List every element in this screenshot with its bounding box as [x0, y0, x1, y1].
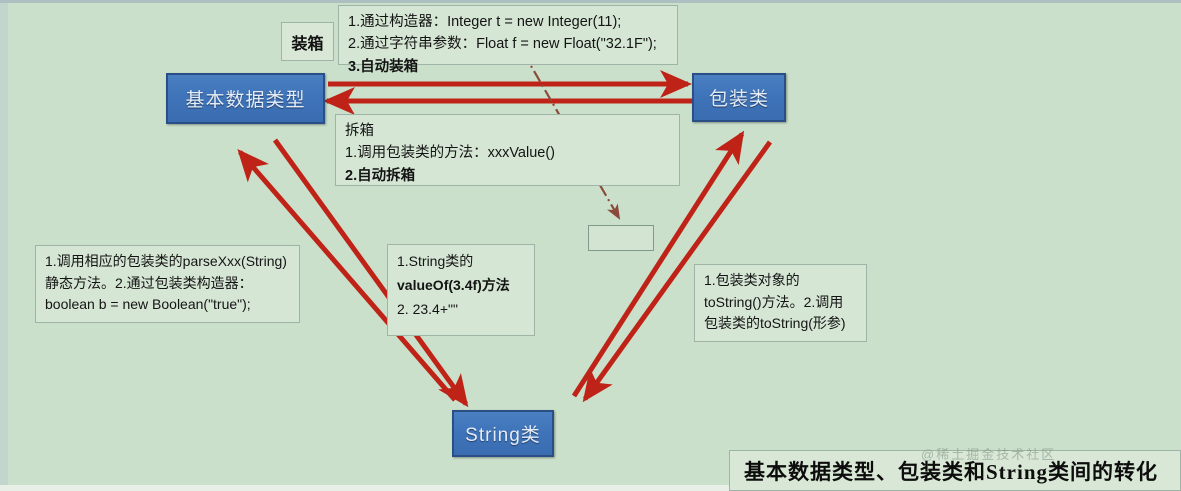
string-to-primitive-note: 1.调用相应的包装类的parseXxx(String) 静态方法。2.通过包装类… — [35, 245, 300, 323]
frame-edge-top — [0, 0, 1181, 3]
primitive-to-string-line-1: 1.String类的 — [397, 250, 525, 274]
boxing-note-line-3: 3.自动装箱 — [348, 56, 668, 78]
boxing-note: 1.通过构造器：Integer t = new Integer(11); 2.通… — [338, 5, 678, 65]
node-string-class[interactable]: String类 — [452, 410, 554, 457]
string-to-primitive-line-1: 1.调用相应的包装类的parseXxx(String) — [45, 251, 290, 273]
wrapper-to-string-line-3: 包装类的toString(形参) — [704, 313, 857, 335]
page-title: 基本数据类型、包装类和String类间的转化 — [744, 456, 1158, 486]
node-wrapper-class-label: 包装类 — [709, 84, 769, 111]
string-to-primitive-line-2: 静态方法。2.通过包装类构造器： — [45, 273, 290, 295]
unboxing-note: 拆箱 1.调用包装类的方法：xxxValue() 2.自动拆箱 — [335, 114, 680, 186]
node-string-class-label: String类 — [465, 420, 541, 447]
frame-edge-left — [0, 3, 8, 491]
unboxing-note-line-2: 1.调用包装类的方法：xxxValue() — [345, 142, 670, 164]
primitive-to-string-note: 1.String类的 valueOf(3.4f)方法 2. 23.4+"" — [387, 244, 535, 336]
boxing-note-line-1: 1.通过构造器：Integer t = new Integer(11); — [348, 11, 668, 33]
wrapper-to-string-note: 1.包装类对象的 toString()方法。2.调用 包装类的toString(… — [694, 264, 867, 342]
node-wrapper-class[interactable]: 包装类 — [692, 73, 786, 122]
node-primitive-type[interactable]: 基本数据类型 — [166, 73, 325, 124]
primitive-to-string-line-3: 2. 23.4+"" — [397, 298, 525, 322]
boxing-note-line-2: 2.通过字符串参数：Float f = new Float("32.1F"); — [348, 33, 668, 55]
unboxing-note-line-1: 拆箱 — [345, 120, 670, 142]
boxing-tag: 装箱 — [281, 22, 334, 61]
node-primitive-type-label: 基本数据类型 — [185, 85, 305, 112]
empty-placeholder-box — [588, 225, 654, 251]
string-to-primitive-text-1: 1.调用相应的包装类的parseXxx(String) — [45, 253, 287, 269]
wrapper-to-string-line-2: toString()方法。2.调用 — [704, 292, 857, 314]
wrapper-to-string-line-1: 1.包装类对象的 — [704, 270, 857, 292]
unboxing-note-line-3: 2.自动拆箱 — [345, 165, 670, 187]
boxing-tag-label: 装箱 — [291, 30, 323, 54]
diagram-title-box: 基本数据类型、包装类和String类间的转化 — [729, 450, 1181, 491]
diagram-canvas: 装箱 1.通过构造器：Integer t = new Integer(11); … — [0, 0, 1181, 491]
string-to-primitive-line-3: boolean b = new Boolean("true"); — [45, 294, 290, 316]
primitive-to-string-line-2: valueOf(3.4f)方法 — [397, 274, 525, 298]
